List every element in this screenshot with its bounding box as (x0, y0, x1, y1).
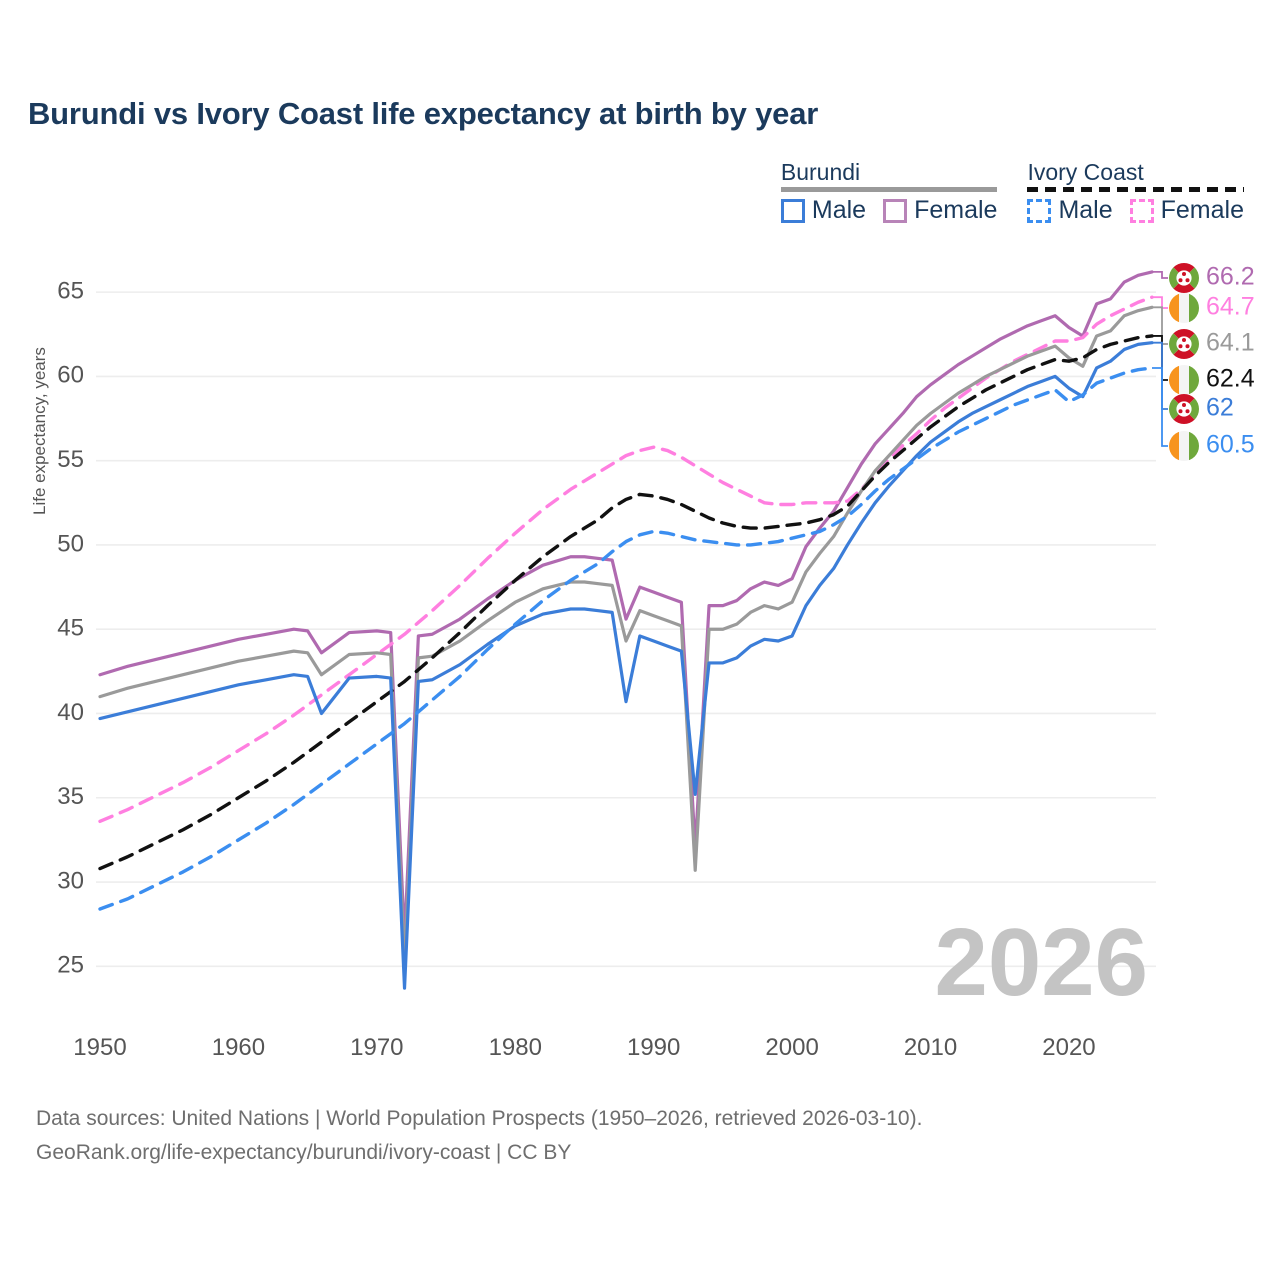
x-tick-label: 2020 (1042, 1034, 1095, 1061)
end-label-connector (1152, 297, 1168, 308)
y-tick-label: 25 (57, 952, 84, 979)
end-value-label: 66.2 (1206, 263, 1255, 291)
end-label-connector (1152, 272, 1168, 278)
series-line-burundi-male (100, 343, 1152, 989)
x-tick-label: 1970 (350, 1034, 403, 1061)
footer-attribution: Data sources: United Nations | World Pop… (36, 1102, 922, 1169)
x-tick-label: 1960 (212, 1034, 265, 1061)
x-axis-ticks: 19501960197019801990200020102020 (73, 1034, 1095, 1061)
x-tick-label: 2000 (765, 1034, 818, 1061)
flag-icon-ivory-coast (1169, 293, 1199, 323)
x-tick-label: 1950 (73, 1034, 126, 1061)
y-tick-label: 60 (57, 362, 84, 389)
y-tick-label: 30 (57, 867, 84, 894)
y-tick-label: 55 (57, 446, 84, 473)
chart-page: Burundi vs Ivory Coast life expectancy a… (0, 0, 1280, 1280)
y-tick-label: 35 (57, 783, 84, 810)
end-value-labels: 66.264.764.162.46260.5 (1152, 263, 1255, 461)
y-tick-label: 45 (57, 615, 84, 642)
gridlines (96, 292, 1156, 966)
year-watermark: 2026 (934, 909, 1148, 1016)
footer-line-1: Data sources: United Nations | World Pop… (36, 1102, 922, 1136)
flag-icon-ivory-coast (1169, 431, 1199, 461)
end-label-connector (1152, 307, 1168, 344)
data-series (100, 272, 1152, 988)
y-tick-label: 40 (57, 699, 84, 726)
flag-icon-burundi (1169, 263, 1199, 293)
line-chart-plot: 253035404550556065 195019601970198019902… (0, 0, 1280, 1280)
series-line-ivory-coast-total (100, 336, 1152, 869)
flag-icon-burundi (1169, 329, 1199, 359)
footer-line-2: GeoRank.org/life-expectancy/burundi/ivor… (36, 1136, 922, 1170)
end-value-label: 64.7 (1206, 293, 1255, 321)
end-value-label: 64.1 (1206, 329, 1255, 357)
x-tick-label: 2010 (904, 1034, 957, 1061)
y-tick-label: 65 (57, 277, 84, 304)
end-value-label: 62.4 (1206, 365, 1255, 393)
flag-icon-ivory-coast (1169, 365, 1199, 395)
x-tick-label: 1980 (489, 1034, 542, 1061)
y-tick-label: 50 (57, 530, 84, 557)
flag-icon-burundi (1169, 394, 1199, 424)
y-axis-ticks: 253035404550556065 (57, 277, 84, 978)
end-value-label: 62 (1206, 394, 1234, 422)
end-value-label: 60.5 (1206, 431, 1255, 459)
x-tick-label: 1990 (627, 1034, 680, 1061)
